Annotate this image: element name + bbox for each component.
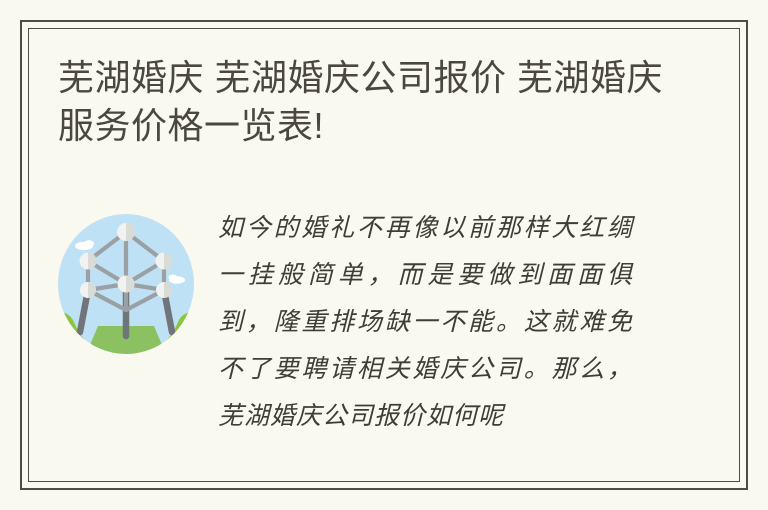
atomium-illustration-svg [58, 214, 194, 354]
intro-paragraph: 如今的婚礼不再像以前那样大红绸一挂般简单，而是要做到面面俱到，隆重排场缺一不能。… [218, 198, 633, 439]
article-body: 如今的婚礼不再像以前那样大红绸一挂般简单，而是要做到面面俱到，隆重排场缺一不能。… [58, 198, 720, 439]
article-card-frame: 芜湖婚庆 芜湖婚庆公司报价 芜湖婚庆服务价格一览表! [20, 20, 748, 490]
page-title: 芜湖婚庆 芜湖婚庆公司报价 芜湖婚庆服务价格一览表! [58, 54, 698, 150]
atomium-monument-illustration [58, 214, 194, 354]
